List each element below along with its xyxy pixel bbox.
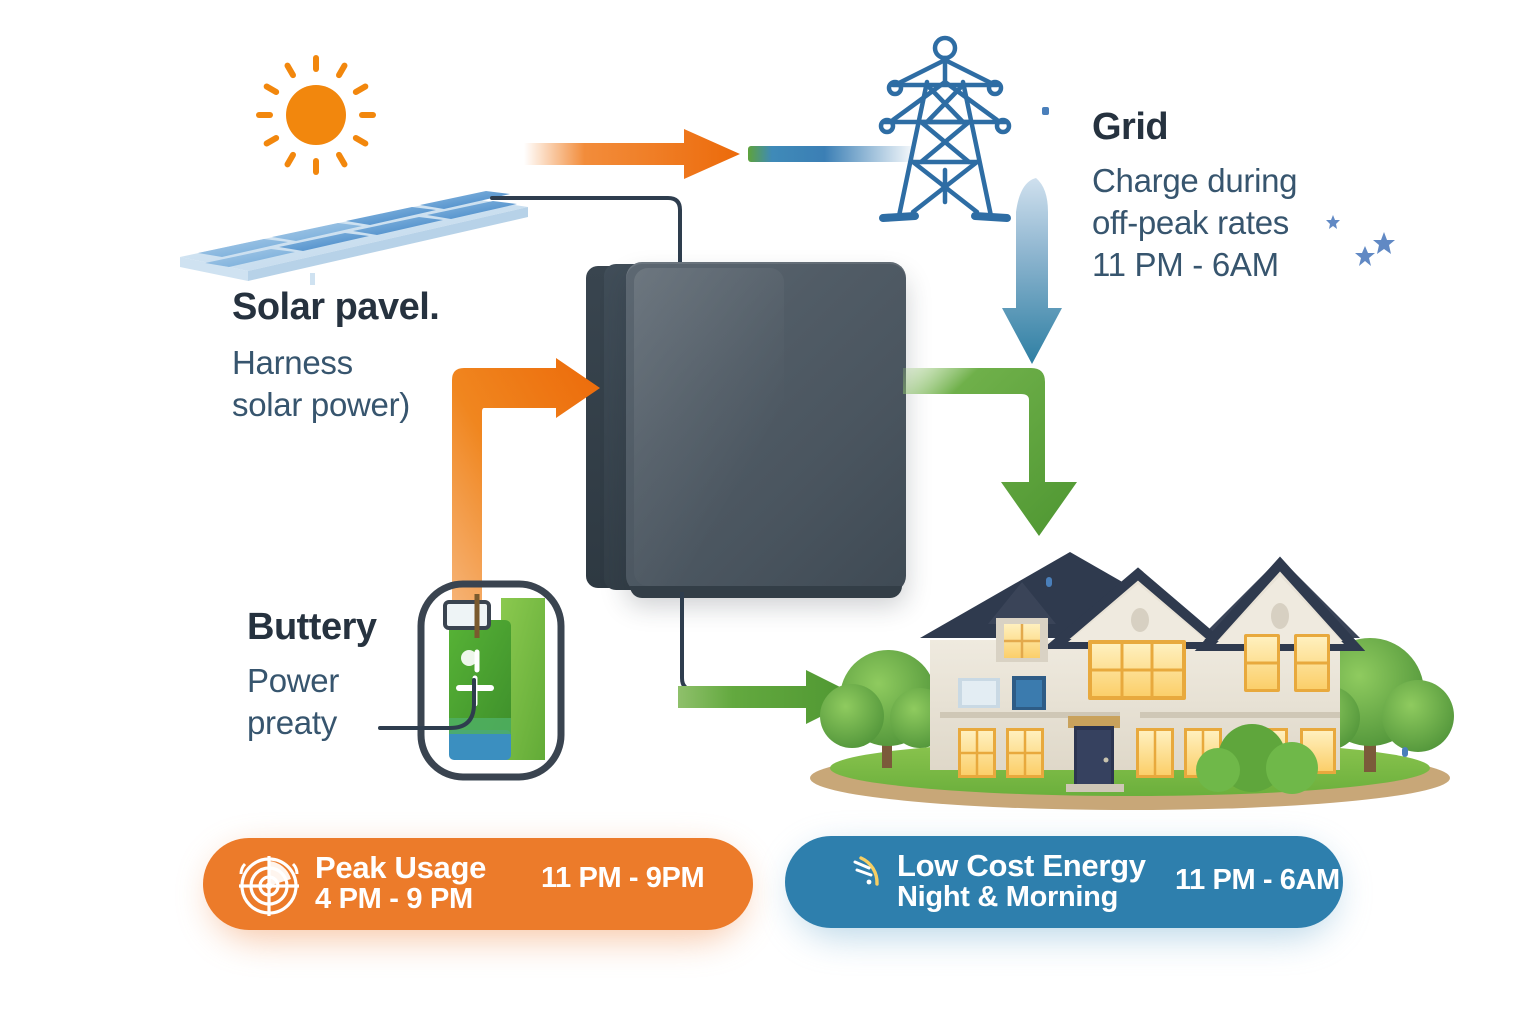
peak-pill-title: Peak Usage: [315, 852, 486, 884]
solar-description: Harness solar power): [232, 342, 439, 426]
battery-desc-line2: preaty: [247, 702, 377, 744]
house-icon: [800, 520, 1460, 810]
solar-label-block: Solar pavel. Harness solar power): [232, 288, 439, 426]
battery-leader-line: [378, 676, 488, 736]
solar-title: Solar pavel.: [232, 288, 439, 328]
battery-label-block: Buttery Power preaty: [247, 608, 377, 744]
grid-desc-line1: Charge during: [1092, 160, 1297, 202]
speck-icon: [1044, 575, 1054, 594]
speck-icon: [1400, 745, 1410, 764]
solar-desc-line1: Harness: [232, 342, 439, 384]
peak-pill-time: 11 PM - 9PM: [541, 862, 704, 895]
speck-icon: [1040, 104, 1052, 122]
low-cost-energy-pill[interactable]: Low Cost Energy Night & Morning 11 PM - …: [785, 836, 1343, 928]
low-cost-pill-time: 11 PM - 6AM: [1175, 864, 1340, 897]
battery-to-cabinet-arrow: [448, 358, 608, 613]
grid-link-bar: [748, 143, 918, 170]
grid-title: Grid: [1092, 108, 1297, 148]
solar-to-grid-arrow: [524, 128, 744, 185]
grid-description: Charge during off-peak rates 11 PM - 6AM: [1092, 160, 1297, 287]
low-cost-pill-title: Low Cost Energy: [897, 850, 1146, 882]
grid-to-house-arrow: [1000, 178, 1080, 373]
solar-desc-line2: solar power): [232, 384, 439, 426]
battery-desc-line1: Power: [247, 660, 377, 702]
moon-icon: [815, 846, 887, 918]
peak-usage-pill[interactable]: Peak Usage 4 PM - 9 PM 11 PM - 9PM: [203, 838, 753, 930]
star-icon: [1373, 232, 1395, 259]
solar-panel-icon: [160, 55, 530, 285]
star-icon: [1355, 246, 1375, 271]
grid-desc-line2: off-peak rates: [1092, 202, 1297, 244]
battery-title: Buttery: [247, 608, 377, 648]
star-icon: [1326, 215, 1340, 234]
grid-label-block: Grid Charge during off-peak rates 11 PM …: [1092, 108, 1297, 287]
radar-gauge-icon: [233, 848, 305, 920]
battery-description: Power preaty: [247, 660, 377, 744]
grid-desc-line3: 11 PM - 6AM: [1092, 244, 1297, 286]
peak-pill-subtitle: 4 PM - 9 PM: [315, 884, 486, 916]
infographic-canvas: Solar pavel. Harness solar power): [0, 0, 1536, 1024]
low-cost-pill-subtitle: Night & Morning: [897, 882, 1146, 914]
